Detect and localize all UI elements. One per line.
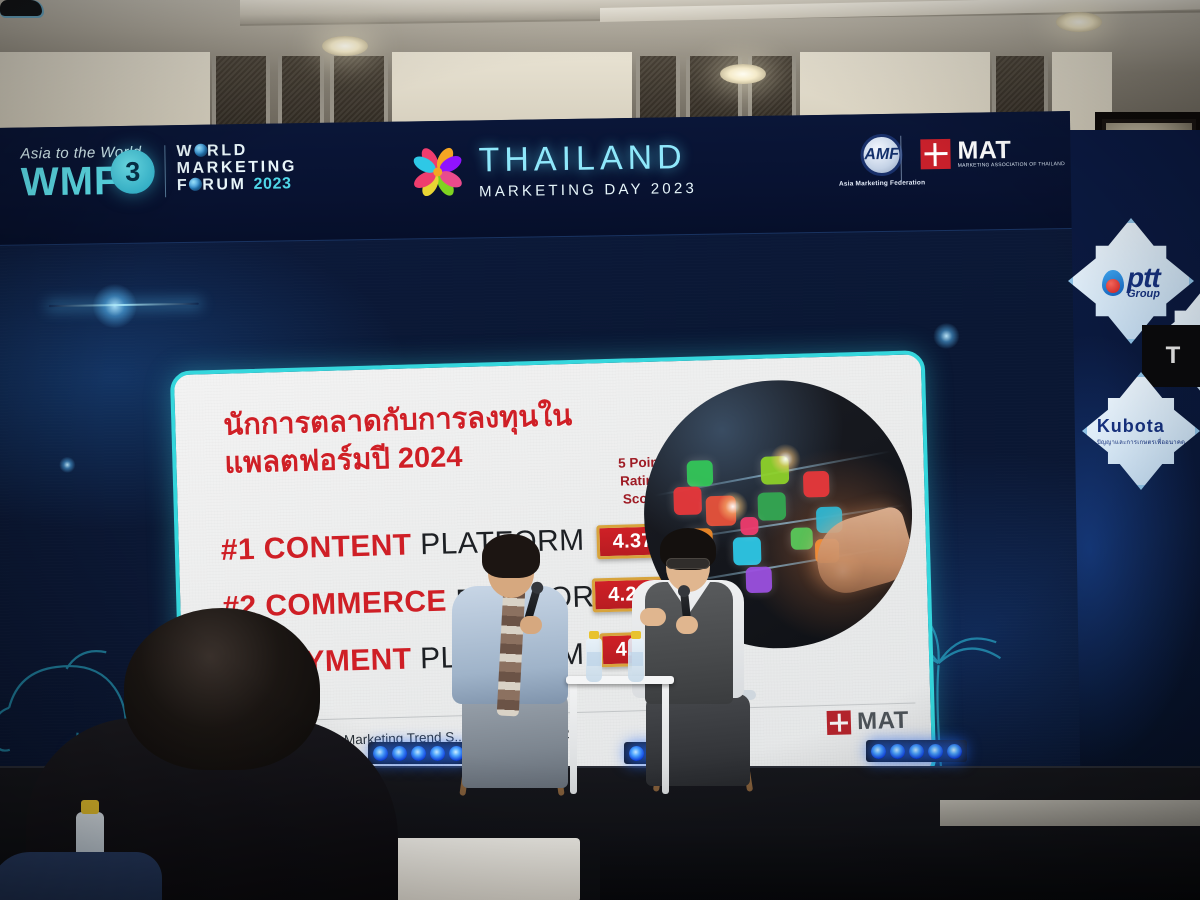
app-icon-heart [740, 517, 758, 535]
rank-keyword-1: CONTENT [263, 528, 412, 565]
tmd-line-thailand: THAILAND [478, 139, 696, 176]
speaker-right [0, 0, 42, 16]
slide-mat-text: MAT [857, 707, 909, 736]
app-icon-check [790, 527, 813, 550]
audience-member-head [124, 608, 320, 770]
slide-mat-logo: MAT [827, 707, 909, 737]
table-top [566, 676, 674, 684]
wmf-wordmark: WRLD MARKETING FRUM 2023 [176, 141, 297, 194]
backdrop-header-bar: Asia to the World WMF 3 WRLD MARKETING F… [0, 111, 1072, 246]
app-icon-camera [733, 537, 762, 566]
speaker-right-hand-2 [640, 608, 666, 626]
stage-led-lamp [430, 746, 445, 761]
kubota-logo: Kubota ปัญญาและการเกษตรเพื่ออนาคต [1097, 416, 1185, 447]
ptt-sub: Group [1127, 290, 1160, 299]
mat-acronym: MAT [957, 138, 1065, 163]
stage-light-bar-left [368, 742, 469, 764]
stage-light-bar-right [866, 740, 967, 762]
stage-led-lamp [373, 746, 388, 761]
mat-logo-header: MAT MARKETING ASSOCIATION OF THAILAND [920, 137, 1065, 169]
downlight-3 [1056, 12, 1102, 32]
amf-logo: AMF Asia Marketing Federation [838, 133, 925, 187]
app-icon-user [746, 566, 773, 593]
app-icon-smiley [673, 486, 702, 515]
wmf-line-forum: FRUM 2023 [177, 175, 298, 194]
audience-blue-chair [0, 852, 162, 900]
wmf-line-marketing: MARKETING [177, 158, 298, 177]
table-leg [662, 682, 669, 794]
stage-led-lamp [411, 746, 426, 761]
water-bottle-2 [628, 638, 644, 682]
app-icon-list [757, 492, 786, 521]
amf-subtitle: Asia Marketing Federation [839, 179, 925, 187]
ptt-name: ptt [1127, 266, 1160, 290]
downlight-2 [720, 64, 766, 84]
globe-icon [194, 144, 207, 157]
stage-led-lamp [629, 746, 644, 761]
speaker-left-hand [520, 616, 542, 634]
rank-number-1: #1 [220, 532, 255, 566]
speaker-left-hair [482, 534, 540, 578]
ptt-wordmark: ptt Group [1127, 266, 1160, 300]
stage-led-lamp [928, 744, 943, 759]
thailand-marketing-day-logo: THAILAND MARKETING DAY 2023 [408, 139, 697, 202]
downlight-1 [322, 36, 368, 56]
mat-wordmark: MAT MARKETING ASSOCIATION OF THAILAND [957, 138, 1065, 169]
stage-led-lamp [909, 744, 924, 759]
speaker-right-hand [676, 616, 698, 634]
kubota-name: Kubota [1097, 416, 1185, 437]
mat-subtitle: MARKETING ASSOCIATION OF THAILAND [958, 161, 1065, 169]
photo-glow-1 [770, 444, 801, 475]
conference-stage-photo: Asia to the World WMF 3 WRLD MARKETING F… [0, 0, 1200, 900]
water-bottle-1 [586, 638, 602, 682]
foreground-dark-counter [600, 826, 1200, 900]
tmd-petal-mark-icon [408, 143, 467, 202]
wmf-edition-badge: 3 [110, 149, 155, 194]
petal-svg [408, 143, 467, 202]
tmd-wordmark: THAILAND MARKETING DAY 2023 [478, 139, 697, 199]
globe-icon-2 [189, 178, 202, 191]
stage-led-lamp [392, 746, 407, 761]
wmf-divider [164, 145, 166, 197]
sponsor-black-box: T [1142, 325, 1200, 387]
ptt-logo: ptt Group [1102, 266, 1160, 300]
stage-led-lamp [890, 744, 905, 759]
tmd-line-subtitle: MARKETING DAY 2023 [479, 179, 697, 199]
speaker-right-shoe [0, 0, 42, 16]
mat-mark-icon [920, 139, 950, 169]
wmf-line-world: WRLD [176, 141, 297, 160]
rank-keyword-2: COMMERCE [265, 584, 447, 622]
app-icon-wifi [687, 460, 714, 487]
wmf-year: 2023 [253, 175, 291, 193]
kubota-sub: ปัญญาและการเกษตรเพื่ออนาคต [1097, 437, 1185, 447]
stage-led-lamp [871, 744, 886, 759]
app-icon-video [803, 471, 830, 498]
speaker-right-glasses [666, 558, 710, 569]
amf-ring-icon: AMF [860, 134, 903, 177]
slide-title: นักการตลาดกับการลงทุนใน แพลตฟอร์มปี 2024 [223, 397, 625, 484]
stage-led-lamp [947, 744, 962, 759]
mat-mark-icon-footer [827, 710, 852, 735]
ptt-flame-icon [1102, 270, 1124, 296]
table-leg [570, 682, 577, 794]
